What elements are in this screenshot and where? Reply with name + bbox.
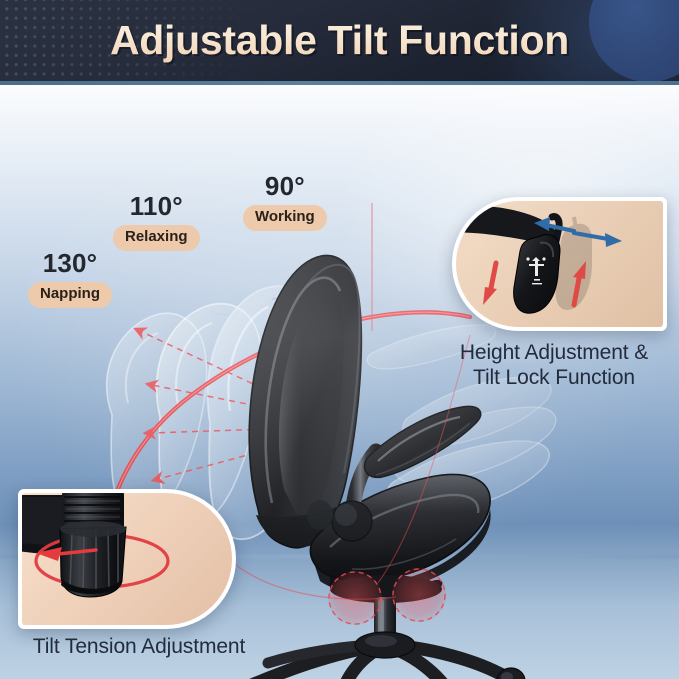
angle-degrees-relaxing: 110° [113,193,200,220]
angle-label-working: 90° Working [243,173,327,231]
angle-label-relaxing: 110° Relaxing [113,193,200,251]
angle-mode-relaxing: Relaxing [113,225,200,251]
product-stage: 130° Napping 110° Relaxing 90° Working [0,85,679,679]
infographic-page: Adjustable Tilt Function [0,0,679,679]
height-down-arrow [483,263,497,305]
angle-degrees-working: 90° [243,173,327,200]
caption-height-line1: Height Adjustment & [432,341,676,366]
caption-height-line2: Tilt Lock Function [432,366,676,391]
header-banner: Adjustable Tilt Function [0,0,679,81]
lever-illustration [456,201,663,327]
callout-inset-height-adjustment [452,197,667,331]
tension-knob [60,521,126,597]
angle-label-napping: 130° Napping [28,250,112,308]
inset-media-tension [22,493,232,625]
tension-knob-illustration [22,493,232,625]
inset-media-height [456,201,663,327]
angle-mode-working: Working [243,205,327,231]
angle-mode-napping: Napping [28,282,112,308]
caption-height-adjustment: Height Adjustment & Tilt Lock Function [432,341,676,390]
angle-degrees-napping: 130° [28,250,112,277]
page-title: Adjustable Tilt Function [0,0,679,81]
caption-tilt-tension: Tilt Tension Adjustment [8,635,270,660]
caption-tension-line1: Tilt Tension Adjustment [8,635,270,660]
callout-inset-tilt-tension [18,489,236,629]
